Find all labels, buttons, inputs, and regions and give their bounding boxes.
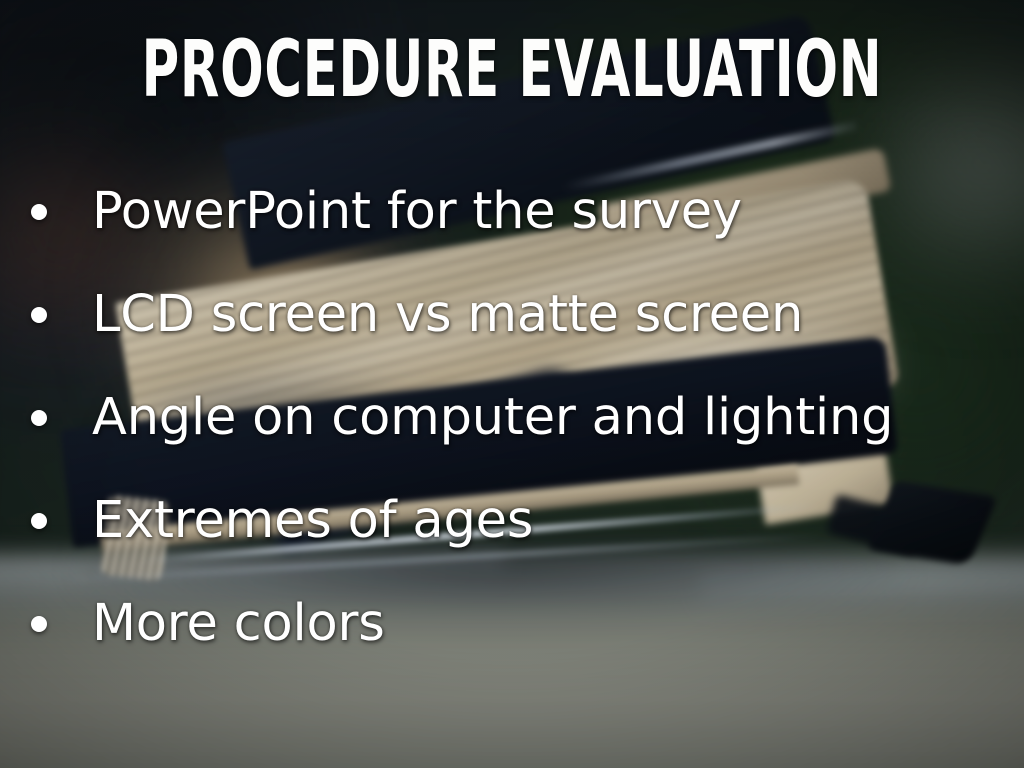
list-item-label: PowerPoint for the survey [92,184,742,240]
bullet-dot-icon [31,410,47,426]
slide-title: Procedure Evaluation [138,28,886,112]
list-item: LCD screen vs matte screen [22,263,1004,366]
bullet-dot-icon [31,204,47,220]
list-item-label: Angle on computer and lighting [92,390,893,446]
list-item-label: LCD screen vs matte screen [92,287,803,343]
list-item: More colors [22,572,1004,675]
bullet-list: PowerPoint for the survey LCD screen vs … [22,160,1004,675]
slide-content: Procedure Evaluation PowerPoint for the … [0,0,1024,768]
list-item-label: Extremes of ages [92,493,533,549]
list-item-label: More colors [92,596,385,652]
list-item: Angle on computer and lighting [22,366,1004,469]
list-item: Extremes of ages [22,469,1004,572]
list-item: PowerPoint for the survey [22,160,1004,263]
bullet-dot-icon [31,616,47,632]
bullet-dot-icon [31,513,47,529]
bullet-dot-icon [31,307,47,323]
presentation-slide: Procedure Evaluation PowerPoint for the … [0,0,1024,768]
